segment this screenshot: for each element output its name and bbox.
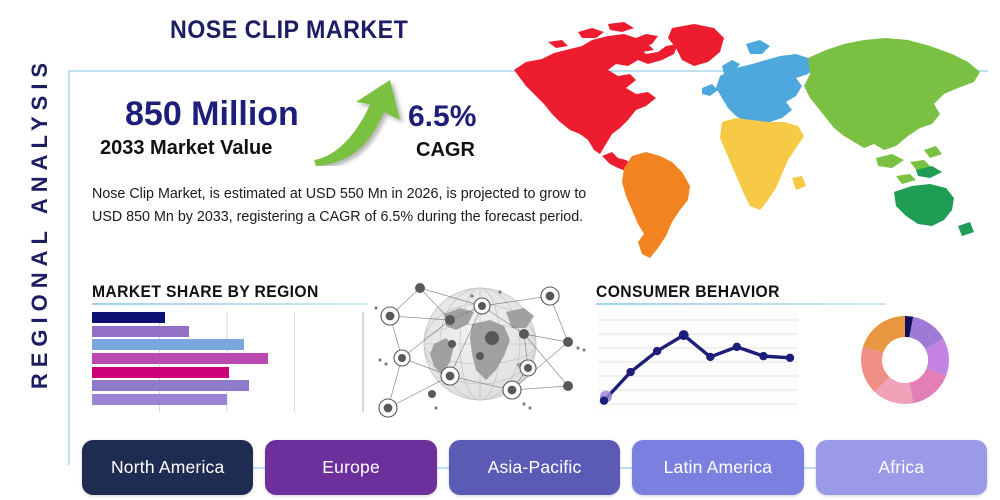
consumer-behavior-heading: CONSUMER BEHAVIOR — [596, 283, 780, 302]
bar-segment — [92, 380, 249, 391]
bar-chart-gridline-outer — [362, 312, 364, 412]
bar-row — [92, 380, 297, 391]
bar-row — [92, 339, 297, 350]
consumer-behavior-donut-chart — [855, 310, 955, 410]
page-title: NOSE CLIP MARKET — [170, 16, 408, 45]
bar-segment — [92, 326, 189, 337]
market-share-heading: MARKET SHARE BY REGION — [92, 283, 319, 302]
bar-row — [92, 326, 297, 337]
line-chart-point — [733, 343, 741, 351]
region-tab-north-america[interactable]: North America — [82, 440, 253, 495]
line-chart-point — [706, 353, 714, 361]
bar-row — [92, 394, 297, 405]
line-chart-point — [626, 368, 634, 376]
bar-row — [92, 367, 297, 378]
bar-segment — [92, 312, 165, 323]
region-tab-asia-pacific[interactable]: Asia-Pacific — [449, 440, 620, 495]
bar-segment — [92, 367, 229, 378]
line-chart-point — [679, 330, 689, 340]
market-share-bar-chart — [92, 312, 297, 412]
market-value-label: 2033 Market Value — [100, 137, 272, 160]
line-chart-point — [653, 347, 661, 355]
region-tab-europe[interactable]: Europe — [265, 440, 436, 495]
infographic-canvas: REGIONAL ANALYSIS NOSE CLIP MARKET 850 M… — [0, 0, 1000, 500]
cagr-figure: 6.5% — [408, 100, 476, 134]
region-tab-label: North America — [111, 457, 224, 478]
bar-segment — [92, 339, 244, 350]
consumer-behavior-line-chart — [598, 312, 798, 414]
cagr-label: CAGR — [416, 139, 475, 162]
bar-segment — [92, 353, 268, 364]
region-tab-label: Latin America — [664, 457, 773, 478]
bar-row — [92, 353, 297, 364]
consumer-behavior-rule — [596, 303, 886, 305]
donut-segment — [863, 316, 905, 353]
region-tab-latin-america[interactable]: Latin America — [632, 440, 803, 495]
bar-segment — [92, 394, 227, 405]
line-chart-series — [604, 335, 790, 401]
growth-arrow-icon — [312, 78, 408, 166]
world-map-icon — [496, 10, 996, 272]
region-tab-africa[interactable]: Africa — [816, 440, 987, 495]
bar-row — [92, 312, 297, 323]
market-share-rule — [92, 303, 367, 305]
line-chart-point — [600, 396, 608, 404]
region-tabs: North AmericaEuropeAsia-PacificLatin Ame… — [82, 440, 987, 495]
globe-network-icon — [372, 272, 592, 422]
region-tab-label: Asia-Pacific — [488, 457, 582, 478]
side-label: REGIONAL ANALYSIS — [27, 13, 53, 433]
market-value-figure: 850 Million — [125, 95, 299, 134]
region-tab-label: Europe — [322, 457, 380, 478]
line-chart-point — [759, 352, 767, 360]
line-chart-point — [786, 354, 794, 362]
region-tab-label: Africa — [878, 457, 924, 478]
